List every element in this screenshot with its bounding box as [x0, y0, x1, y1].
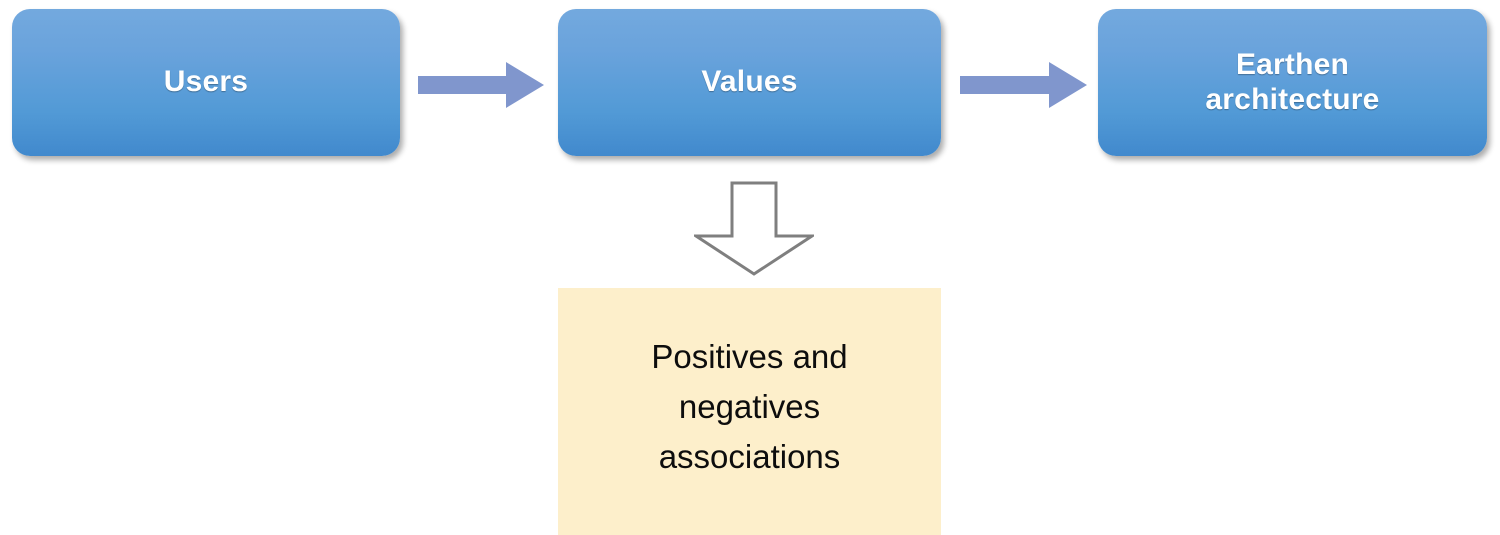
node-values[interactable]: Values	[558, 9, 941, 156]
node-associations[interactable]: Positives and negatives associations	[558, 288, 941, 535]
arrow-values-to-earthen	[960, 58, 1087, 112]
right-arrow-icon	[960, 58, 1087, 112]
down-arrow-outline-icon	[694, 181, 814, 276]
node-values-label: Values	[689, 65, 809, 100]
arrow-users-to-values	[418, 58, 544, 112]
arrow-values-to-associations	[694, 181, 814, 276]
right-arrow-icon	[418, 58, 544, 112]
node-users[interactable]: Users	[12, 9, 400, 156]
node-users-label: Users	[152, 65, 260, 100]
node-associations-label: Positives and negatives associations	[651, 332, 847, 482]
node-earthen-architecture-label: Earthen architecture	[1193, 48, 1391, 118]
diagram-canvas: Users Values Earthen architecture Positi…	[0, 0, 1500, 535]
node-earthen-architecture[interactable]: Earthen architecture	[1098, 9, 1487, 156]
